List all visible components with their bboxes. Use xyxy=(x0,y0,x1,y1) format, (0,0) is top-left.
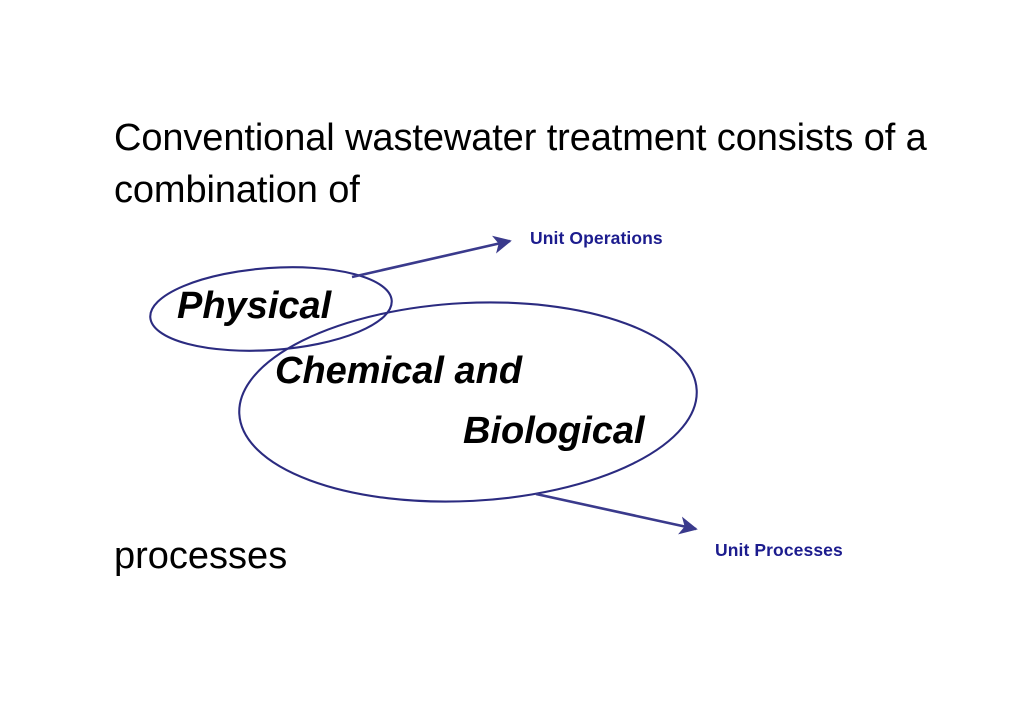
unit-operations-arrow xyxy=(352,241,510,277)
slide-canvas: Conventional wastewater treatment consis… xyxy=(0,0,1024,724)
venn-label-biological: Biological xyxy=(463,410,645,453)
unit-processes-arrow xyxy=(536,494,696,529)
callout-label-unit-operations: Unit Operations xyxy=(530,228,663,249)
footer-text-processes: processes xyxy=(114,535,287,578)
venn-label-physical: Physical xyxy=(177,285,331,328)
venn-label-chemical: Chemical and xyxy=(275,350,522,393)
callout-label-unit-processes: Unit Processes xyxy=(715,540,843,561)
